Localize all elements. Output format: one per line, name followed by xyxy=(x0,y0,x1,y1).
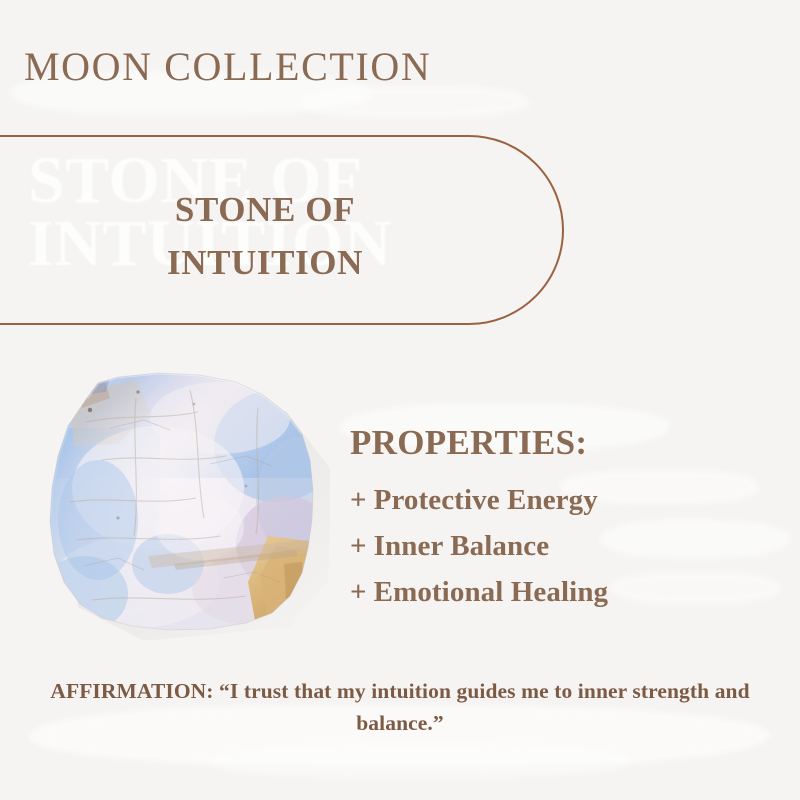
properties-heading: PROPERTIES: xyxy=(350,424,770,463)
property-item: +Emotional Healing xyxy=(350,569,770,615)
property-item: +Protective Energy xyxy=(350,477,770,523)
plus-icon: + xyxy=(350,477,367,523)
property-label: Inner Balance xyxy=(374,530,550,562)
properties-list: +Protective Energy +Inner Balance +Emoti… xyxy=(350,477,770,616)
plus-icon: + xyxy=(350,569,367,615)
collection-title: MOON COLLECTION xyxy=(24,44,431,90)
brush-texture-patch xyxy=(210,744,630,778)
crystal-info-card: MOON COLLECTION STONE OF INTUITION STONE… xyxy=(0,0,800,800)
affirmation-block: AFFIRMATION: “I trust that my intuition … xyxy=(34,676,766,740)
property-item: +Inner Balance xyxy=(350,523,770,569)
brush-texture-patch xyxy=(300,86,530,118)
stone-name-title: STONE OF INTUITION xyxy=(115,183,415,289)
property-label: Protective Energy xyxy=(374,484,598,516)
property-label: Emotional Healing xyxy=(374,576,609,608)
properties-block: PROPERTIES: +Protective Energy +Inner Ba… xyxy=(350,424,770,616)
affirmation-label: AFFIRMATION: xyxy=(50,679,213,703)
plus-icon: + xyxy=(350,523,367,569)
affirmation-quote: “I trust that my intuition guides me to … xyxy=(219,679,750,735)
moonstone-image xyxy=(40,368,330,640)
